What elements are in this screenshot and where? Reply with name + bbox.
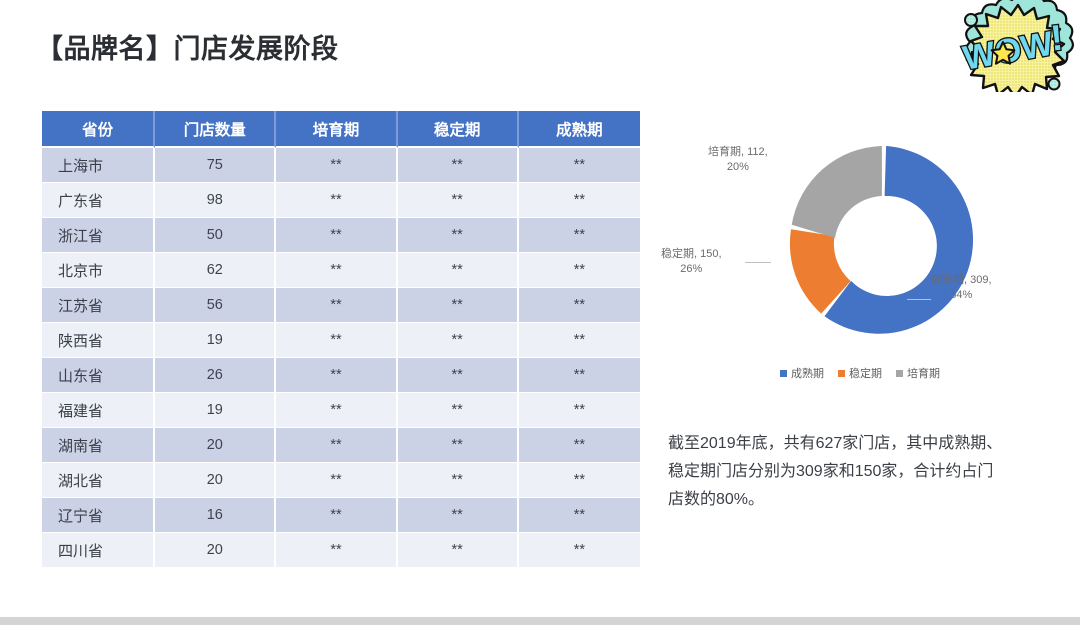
store-stage-donut-chart: 培育期, 112, 20% 稳定期, 150, 26% 成熟期, 309, 54… bbox=[650, 120, 1070, 410]
chart-legend: 成熟期 稳定期 培育期 bbox=[650, 365, 1070, 381]
cell-peiyu: ** bbox=[276, 183, 397, 218]
leader-line-wending bbox=[745, 262, 771, 263]
cell-province: 湖北省 bbox=[42, 463, 155, 498]
cell-wending: ** bbox=[398, 183, 519, 218]
cell-count: 26 bbox=[155, 358, 276, 393]
cell-chengshu: ** bbox=[519, 428, 640, 463]
column-header-province: 省份 bbox=[42, 111, 155, 148]
cell-count: 20 bbox=[155, 533, 276, 568]
cell-province: 四川省 bbox=[42, 533, 155, 568]
cell-province: 陕西省 bbox=[42, 323, 155, 358]
cell-province: 北京市 bbox=[42, 253, 155, 288]
table-row: 浙江省 50 ** ** ** bbox=[42, 218, 640, 253]
cell-wending: ** bbox=[398, 218, 519, 253]
table-header-row: 省份 门店数量 培育期 稳定期 成熟期 bbox=[42, 111, 640, 148]
cell-count: 75 bbox=[155, 148, 276, 183]
legend-label: 成熟期 bbox=[791, 365, 824, 381]
column-header-wending: 稳定期 bbox=[398, 111, 519, 148]
table-row: 上海市 75 ** ** ** bbox=[42, 148, 640, 183]
cell-peiyu: ** bbox=[276, 393, 397, 428]
cell-peiyu: ** bbox=[276, 463, 397, 498]
legend-label: 稳定期 bbox=[849, 365, 882, 381]
table-row: 湖北省 20 ** ** ** bbox=[42, 463, 640, 498]
cell-count: 62 bbox=[155, 253, 276, 288]
cell-peiyu: ** bbox=[276, 428, 397, 463]
cell-wending: ** bbox=[398, 253, 519, 288]
table-row: 江苏省 56 ** ** ** bbox=[42, 288, 640, 323]
cell-wending: ** bbox=[398, 428, 519, 463]
cell-count: 20 bbox=[155, 428, 276, 463]
cell-wending: ** bbox=[398, 323, 519, 358]
table-row: 湖南省 20 ** ** ** bbox=[42, 428, 640, 463]
cell-province: 湖南省 bbox=[42, 428, 155, 463]
cell-count: 19 bbox=[155, 323, 276, 358]
legend-label: 培育期 bbox=[907, 365, 940, 381]
cell-province: 上海市 bbox=[42, 148, 155, 183]
donut-slice-peiyu bbox=[792, 146, 882, 238]
summary-line-1: 截至2019年底，共有627家门店，其中成熟期、 bbox=[668, 430, 1018, 458]
cell-wending: ** bbox=[398, 463, 519, 498]
data-label-peiyu: 培育期, 112, 20% bbox=[708, 145, 768, 175]
cell-province: 辽宁省 bbox=[42, 498, 155, 533]
cell-wending: ** bbox=[398, 358, 519, 393]
cell-wending: ** bbox=[398, 393, 519, 428]
cell-province: 江苏省 bbox=[42, 288, 155, 323]
legend-item-peiyu[interactable]: 培育期 bbox=[896, 365, 940, 381]
cell-peiyu: ** bbox=[276, 148, 397, 183]
cell-chengshu: ** bbox=[519, 358, 640, 393]
table-row: 广东省 98 ** ** ** bbox=[42, 183, 640, 218]
cell-count: 19 bbox=[155, 393, 276, 428]
cell-chengshu: ** bbox=[519, 148, 640, 183]
cell-chengshu: ** bbox=[519, 218, 640, 253]
cell-peiyu: ** bbox=[276, 288, 397, 323]
cell-peiyu: ** bbox=[276, 498, 397, 533]
cell-chengshu: ** bbox=[519, 498, 640, 533]
cell-count: 16 bbox=[155, 498, 276, 533]
legend-swatch-icon bbox=[896, 370, 903, 377]
table-row: 北京市 62 ** ** ** bbox=[42, 253, 640, 288]
cell-count: 98 bbox=[155, 183, 276, 218]
donut-graphic bbox=[783, 140, 983, 340]
table-row: 四川省 20 ** ** ** bbox=[42, 533, 640, 568]
leader-line-chengshu bbox=[907, 299, 931, 300]
footer-bar bbox=[0, 617, 1080, 625]
cell-chengshu: ** bbox=[519, 288, 640, 323]
store-stage-table: 省份 门店数量 培育期 稳定期 成熟期 上海市 75 ** ** ** 广东省 … bbox=[42, 111, 640, 568]
cell-province: 福建省 bbox=[42, 393, 155, 428]
cell-peiyu: ** bbox=[276, 533, 397, 568]
cell-chengshu: ** bbox=[519, 463, 640, 498]
legend-item-wending[interactable]: 稳定期 bbox=[838, 365, 882, 381]
cell-peiyu: ** bbox=[276, 218, 397, 253]
summary-paragraph: 截至2019年底，共有627家门店，其中成熟期、 稳定期门店分别为309家和15… bbox=[668, 430, 1018, 514]
cell-wending: ** bbox=[398, 288, 519, 323]
cell-wending: ** bbox=[398, 148, 519, 183]
table-row: 陕西省 19 ** ** ** bbox=[42, 323, 640, 358]
cell-chengshu: ** bbox=[519, 393, 640, 428]
legend-item-chengshu[interactable]: 成熟期 bbox=[780, 365, 824, 381]
page-title: 【品牌名】门店发展阶段 bbox=[36, 27, 339, 66]
data-label-chengshu: 成熟期, 309, 54% bbox=[931, 273, 992, 303]
cell-chengshu: ** bbox=[519, 253, 640, 288]
cell-peiyu: ** bbox=[276, 358, 397, 393]
summary-line-2: 稳定期门店分别为309家和150家，合计约占门 bbox=[668, 458, 1018, 486]
cell-count: 50 bbox=[155, 218, 276, 253]
cell-count: 20 bbox=[155, 463, 276, 498]
cell-peiyu: ** bbox=[276, 323, 397, 358]
cell-count: 56 bbox=[155, 288, 276, 323]
cell-province: 浙江省 bbox=[42, 218, 155, 253]
table-row: 福建省 19 ** ** ** bbox=[42, 393, 640, 428]
cell-peiyu: ** bbox=[276, 253, 397, 288]
table-row: 辽宁省 16 ** ** ** bbox=[42, 498, 640, 533]
cell-chengshu: ** bbox=[519, 323, 640, 358]
data-label-wending: 稳定期, 150, 26% bbox=[661, 247, 722, 277]
column-header-peiyu: 培育期 bbox=[276, 111, 397, 148]
table-row: 山东省 26 ** ** ** bbox=[42, 358, 640, 393]
column-header-chengshu: 成熟期 bbox=[519, 111, 640, 148]
cell-chengshu: ** bbox=[519, 533, 640, 568]
legend-swatch-icon bbox=[780, 370, 787, 377]
wow-sticker: WOW ! bbox=[958, 0, 1080, 92]
legend-swatch-icon bbox=[838, 370, 845, 377]
column-header-count: 门店数量 bbox=[155, 111, 276, 148]
cell-chengshu: ** bbox=[519, 183, 640, 218]
cell-wending: ** bbox=[398, 498, 519, 533]
summary-line-3: 店数的80%。 bbox=[668, 486, 1018, 514]
cell-province: 广东省 bbox=[42, 183, 155, 218]
cell-wending: ** bbox=[398, 533, 519, 568]
cell-province: 山东省 bbox=[42, 358, 155, 393]
